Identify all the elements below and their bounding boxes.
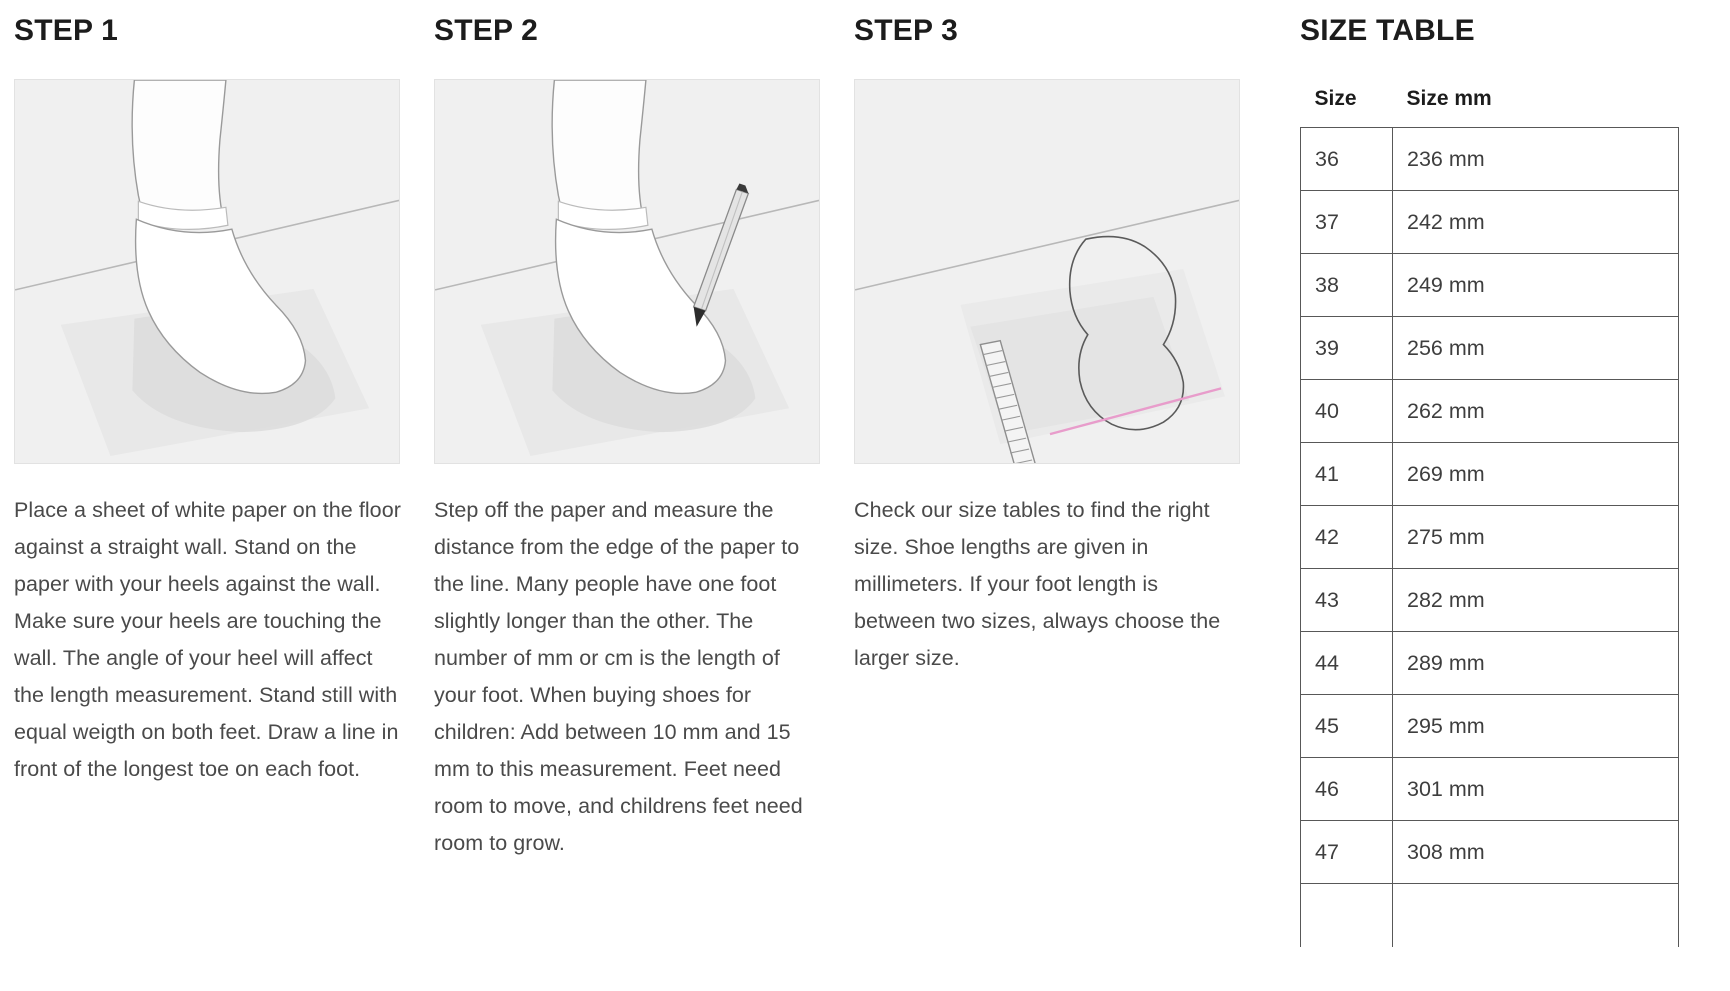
- table-row: 40262 mm: [1301, 380, 1679, 443]
- table-row: 43282 mm: [1301, 569, 1679, 632]
- cell-size-mm: 269 mm: [1393, 443, 1679, 506]
- table-row: 36236 mm: [1301, 128, 1679, 191]
- table-row-partial: [1301, 884, 1679, 947]
- step-card-1: STEP 1 Place a sh: [14, 4, 434, 991]
- table-row: 45295 mm: [1301, 695, 1679, 758]
- cell-size: 39: [1301, 317, 1393, 380]
- cell-size-mm: 249 mm: [1393, 254, 1679, 317]
- cell-size: 42: [1301, 506, 1393, 569]
- cell-size: 46: [1301, 758, 1393, 821]
- cell-size-mm: 242 mm: [1393, 191, 1679, 254]
- step-3-heading: STEP 3: [854, 16, 1239, 46]
- step-card-3: STEP 3: [854, 4, 1274, 991]
- size-table-header-row: Size Size mm: [1301, 87, 1679, 128]
- cell-size: 44: [1301, 632, 1393, 695]
- cell-size-mm: 256 mm: [1393, 317, 1679, 380]
- column-header-size: Size: [1301, 87, 1393, 128]
- cell-size-mm: [1393, 884, 1679, 947]
- cell-size: 43: [1301, 569, 1393, 632]
- table-row: 41269 mm: [1301, 443, 1679, 506]
- table-row: 46301 mm: [1301, 758, 1679, 821]
- table-row: 47308 mm: [1301, 821, 1679, 884]
- cell-size-mm: 236 mm: [1393, 128, 1679, 191]
- cell-size-mm: 262 mm: [1393, 380, 1679, 443]
- cell-size: 41: [1301, 443, 1393, 506]
- table-row: 37242 mm: [1301, 191, 1679, 254]
- size-table-heading: SIZE TABLE: [1300, 16, 1730, 46]
- step-3-text: Check our size tables to find the right …: [854, 492, 1244, 677]
- table-row: 38249 mm: [1301, 254, 1679, 317]
- cell-size-mm: 295 mm: [1393, 695, 1679, 758]
- column-header-size-mm: Size mm: [1393, 87, 1679, 128]
- foot-against-wall-illustration: [14, 79, 400, 464]
- cell-size-mm: 282 mm: [1393, 569, 1679, 632]
- size-table-head: Size Size mm: [1301, 87, 1679, 128]
- size-table-body: 36236 mm 37242 mm 38249 mm 39256 mm 4026…: [1301, 128, 1679, 947]
- cell-size-mm: 289 mm: [1393, 632, 1679, 695]
- step-1-text: Place a sheet of white paper on the floo…: [14, 492, 404, 788]
- step-2-heading: STEP 2: [434, 16, 819, 46]
- cell-size: [1301, 884, 1393, 947]
- cell-size-mm: 301 mm: [1393, 758, 1679, 821]
- table-row: 42275 mm: [1301, 506, 1679, 569]
- table-row: 44289 mm: [1301, 632, 1679, 695]
- size-guide-page: STEP 1 Place a sh: [0, 0, 1730, 991]
- size-table: Size Size mm 36236 mm 37242 mm 38249 mm …: [1300, 87, 1679, 947]
- cell-size-mm: 275 mm: [1393, 506, 1679, 569]
- cell-size: 37: [1301, 191, 1393, 254]
- cell-size: 47: [1301, 821, 1393, 884]
- step-1-heading: STEP 1: [14, 16, 399, 46]
- cell-size: 40: [1301, 380, 1393, 443]
- table-row: 39256 mm: [1301, 317, 1679, 380]
- cell-size: 38: [1301, 254, 1393, 317]
- size-table-panel: SIZE TABLE Size Size mm 36236 mm 37242 m…: [1280, 0, 1730, 991]
- cell-size: 45: [1301, 695, 1393, 758]
- cell-size: 36: [1301, 128, 1393, 191]
- step-2-text: Step off the paper and measure the dista…: [434, 492, 824, 862]
- step-card-2: STEP 2: [434, 4, 854, 991]
- ruler-measuring-outline-illustration: [854, 79, 1240, 464]
- steps-container: STEP 1 Place a sh: [0, 0, 1280, 991]
- cell-size-mm: 308 mm: [1393, 821, 1679, 884]
- pencil-marking-toe-illustration: [434, 79, 820, 464]
